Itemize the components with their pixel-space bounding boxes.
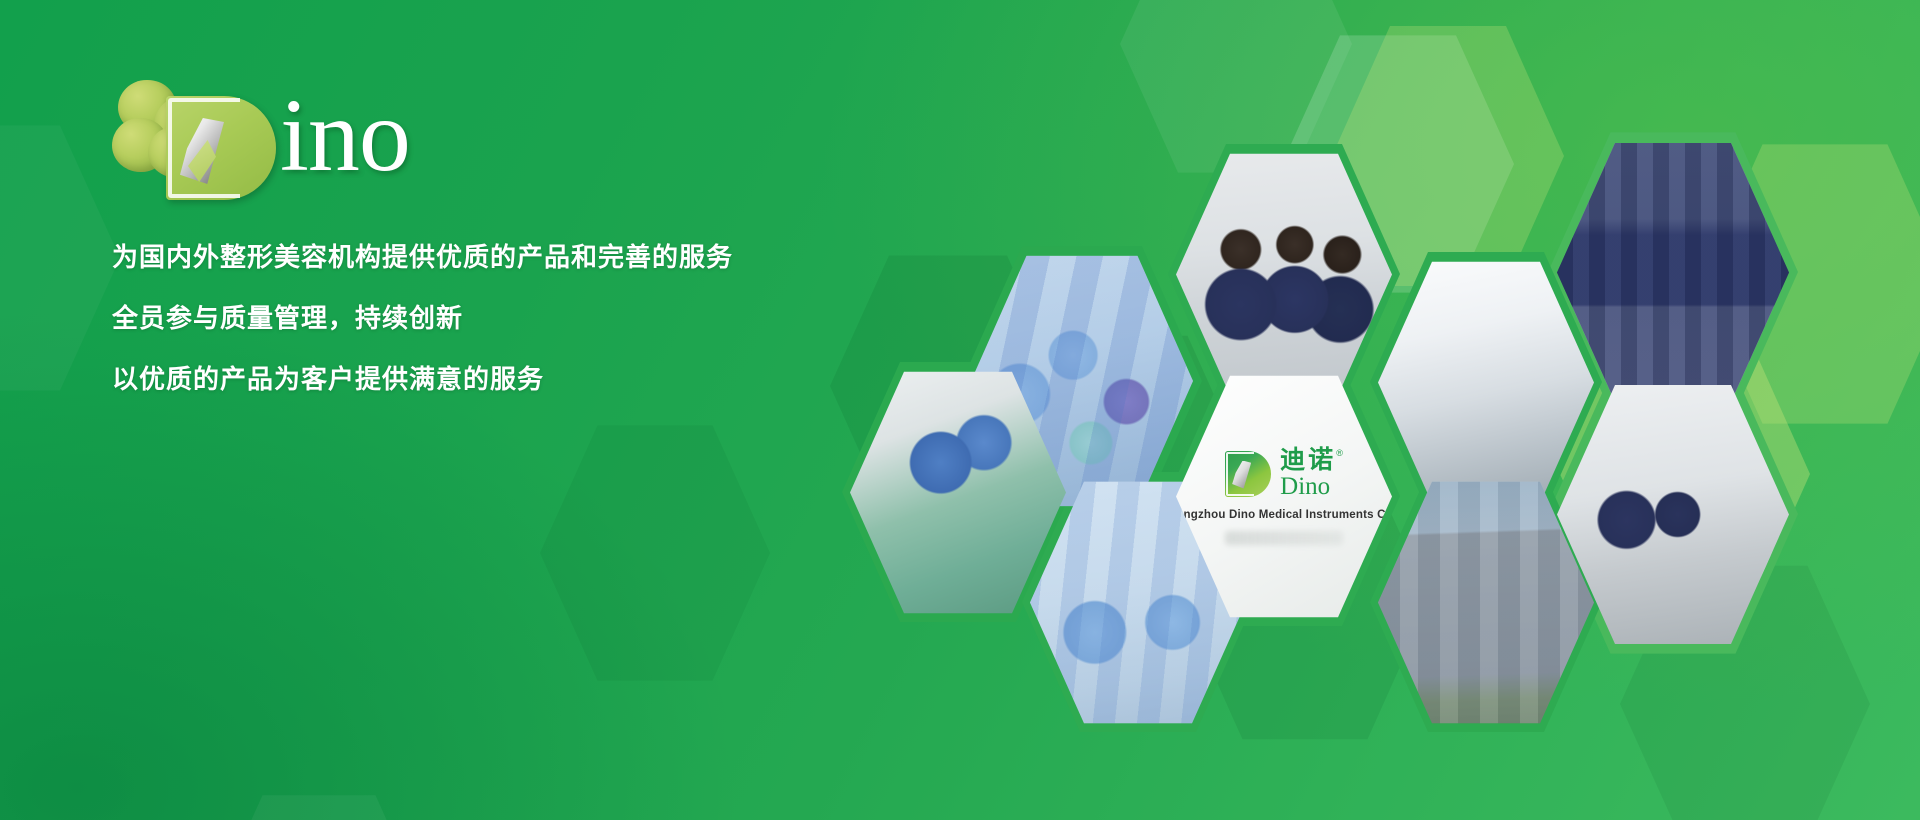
slogan-line-1: 为国内外整形美容机构提供优质的产品和完善的服务 xyxy=(112,244,932,270)
brand-wordmark: ino xyxy=(280,84,410,188)
logo-latin-name: Dino xyxy=(1280,474,1330,499)
banner-text-block: ino 为国内外整形美容机构提供优质的产品和完善的服务 全员参与质量管理，持续创… xyxy=(112,78,932,392)
registered-trademark-icon: ® xyxy=(1336,448,1343,458)
dino-d-icon xyxy=(1225,451,1271,497)
letter-d-icon xyxy=(166,96,276,200)
company-hero-banner: 迪诺 ® Dino Hangzhou Dino Medical Instrume… xyxy=(0,0,1920,820)
slogan-list: 为国内外整形美容机构提供优质的产品和完善的服务 全员参与质量管理，持续创新 以优… xyxy=(112,244,932,392)
slogan-line-2: 全员参与质量管理，持续创新 xyxy=(112,305,932,331)
company-full-name: Hangzhou Dino Medical Instruments Co.. xyxy=(1168,509,1399,521)
slogan-line-3: 以优质的产品为客户提供满意的服务 xyxy=(112,366,932,392)
blurred-subtext xyxy=(1225,531,1343,545)
dino-logo-mark: 迪诺 ® Dino xyxy=(1225,448,1343,499)
logo-chinese-name: 迪诺 xyxy=(1280,448,1336,473)
dino-brand-logo: ino xyxy=(112,78,442,198)
